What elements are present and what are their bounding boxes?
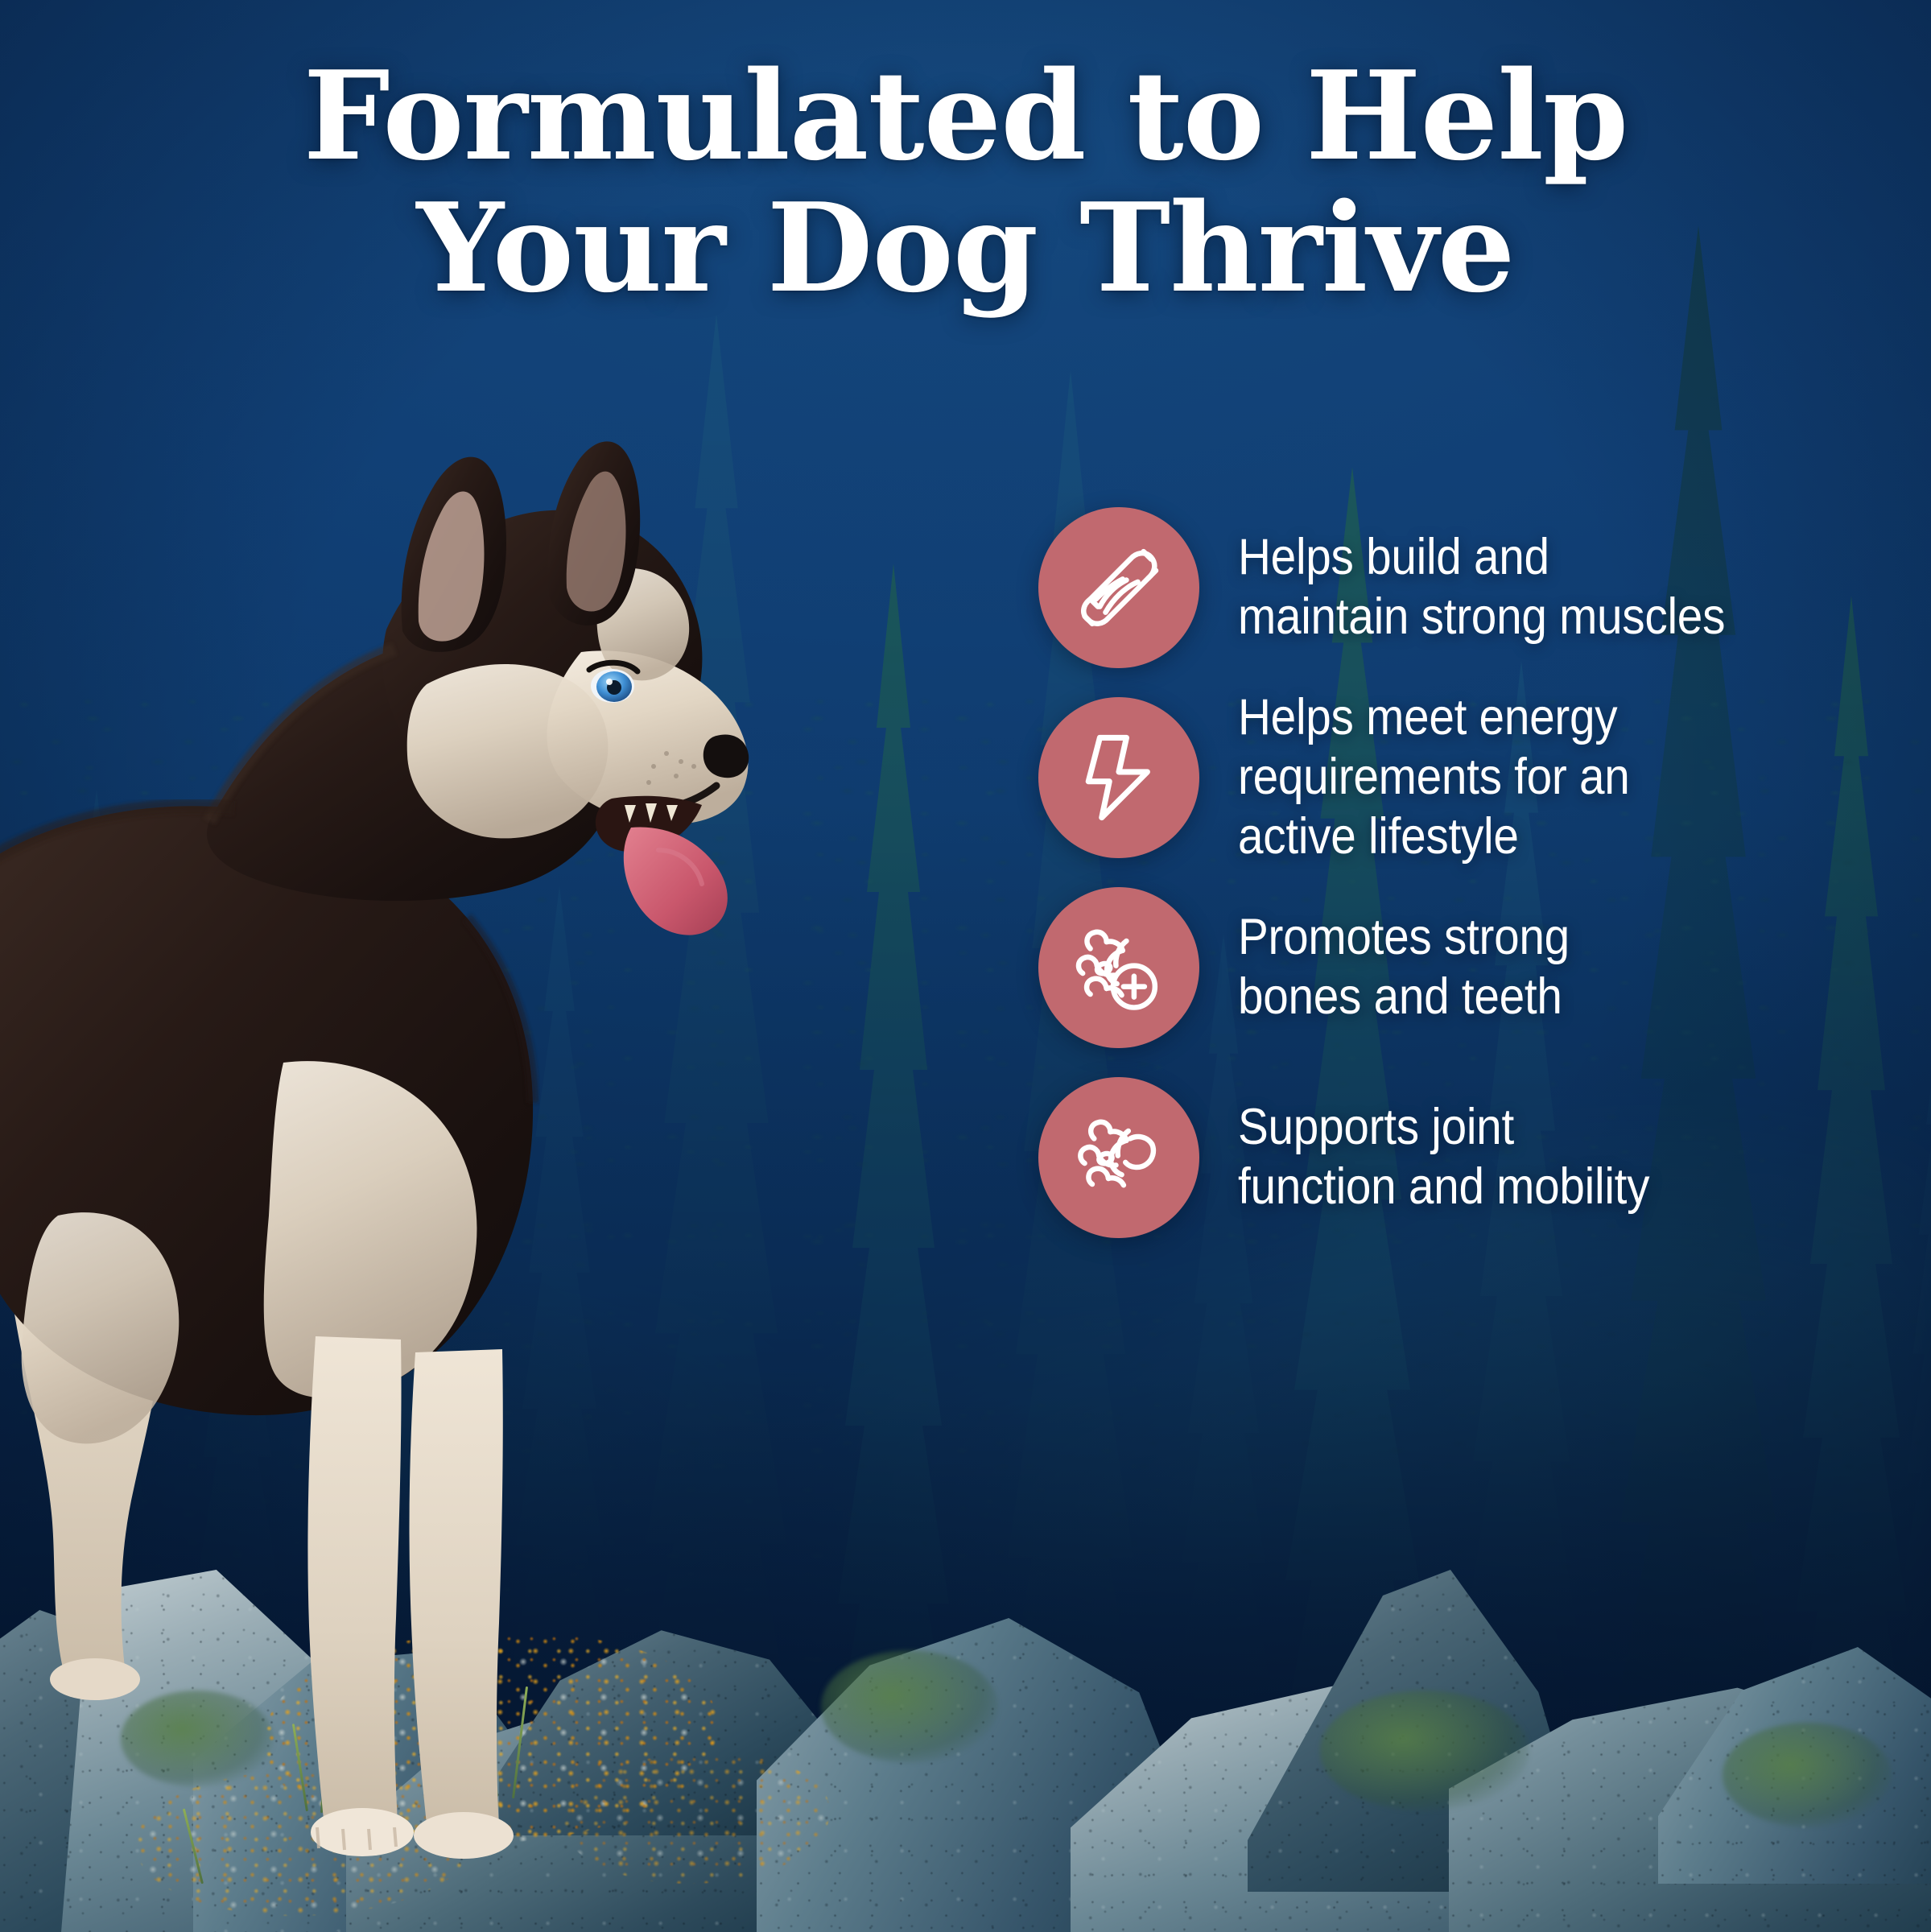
benefit-item-joints: Supports joint function and mobility (1038, 1063, 1892, 1253)
benefit-text: Supports joint function and mobility (1238, 1098, 1649, 1216)
joints-badge (1038, 1077, 1199, 1238)
promo-poster: Formulated to Help Your Dog Thrive Helps… (0, 0, 1931, 1932)
benefit-item-bones: Promotes strong bones and teeth (1038, 873, 1892, 1063)
lightning-bolt-icon (1071, 730, 1166, 825)
energy-badge (1038, 697, 1199, 858)
headline: Formulated to Help Your Dog Thrive (0, 50, 1931, 314)
bone-plus-icon (1071, 920, 1166, 1015)
benefit-list: Helps build and maintain strong muscles … (1038, 493, 1892, 1253)
benefit-text: Helps meet energy requirements for an ac… (1238, 688, 1630, 866)
joint-icon (1071, 1110, 1166, 1205)
benefit-item-muscle: Helps build and maintain strong muscles (1038, 493, 1892, 683)
headline-line-2: Your Dog Thrive (193, 182, 1738, 314)
muscle-badge (1038, 507, 1199, 668)
husky-photo (0, 306, 821, 1868)
benefit-text: Helps build and maintain strong muscles (1238, 528, 1725, 646)
benefit-item-energy: Helps meet energy requirements for an ac… (1038, 683, 1892, 873)
bones-badge (1038, 887, 1199, 1048)
headline-line-1: Formulated to Help (303, 43, 1628, 188)
muscle-icon (1071, 540, 1166, 635)
benefit-text: Promotes strong bones and teeth (1238, 908, 1570, 1026)
